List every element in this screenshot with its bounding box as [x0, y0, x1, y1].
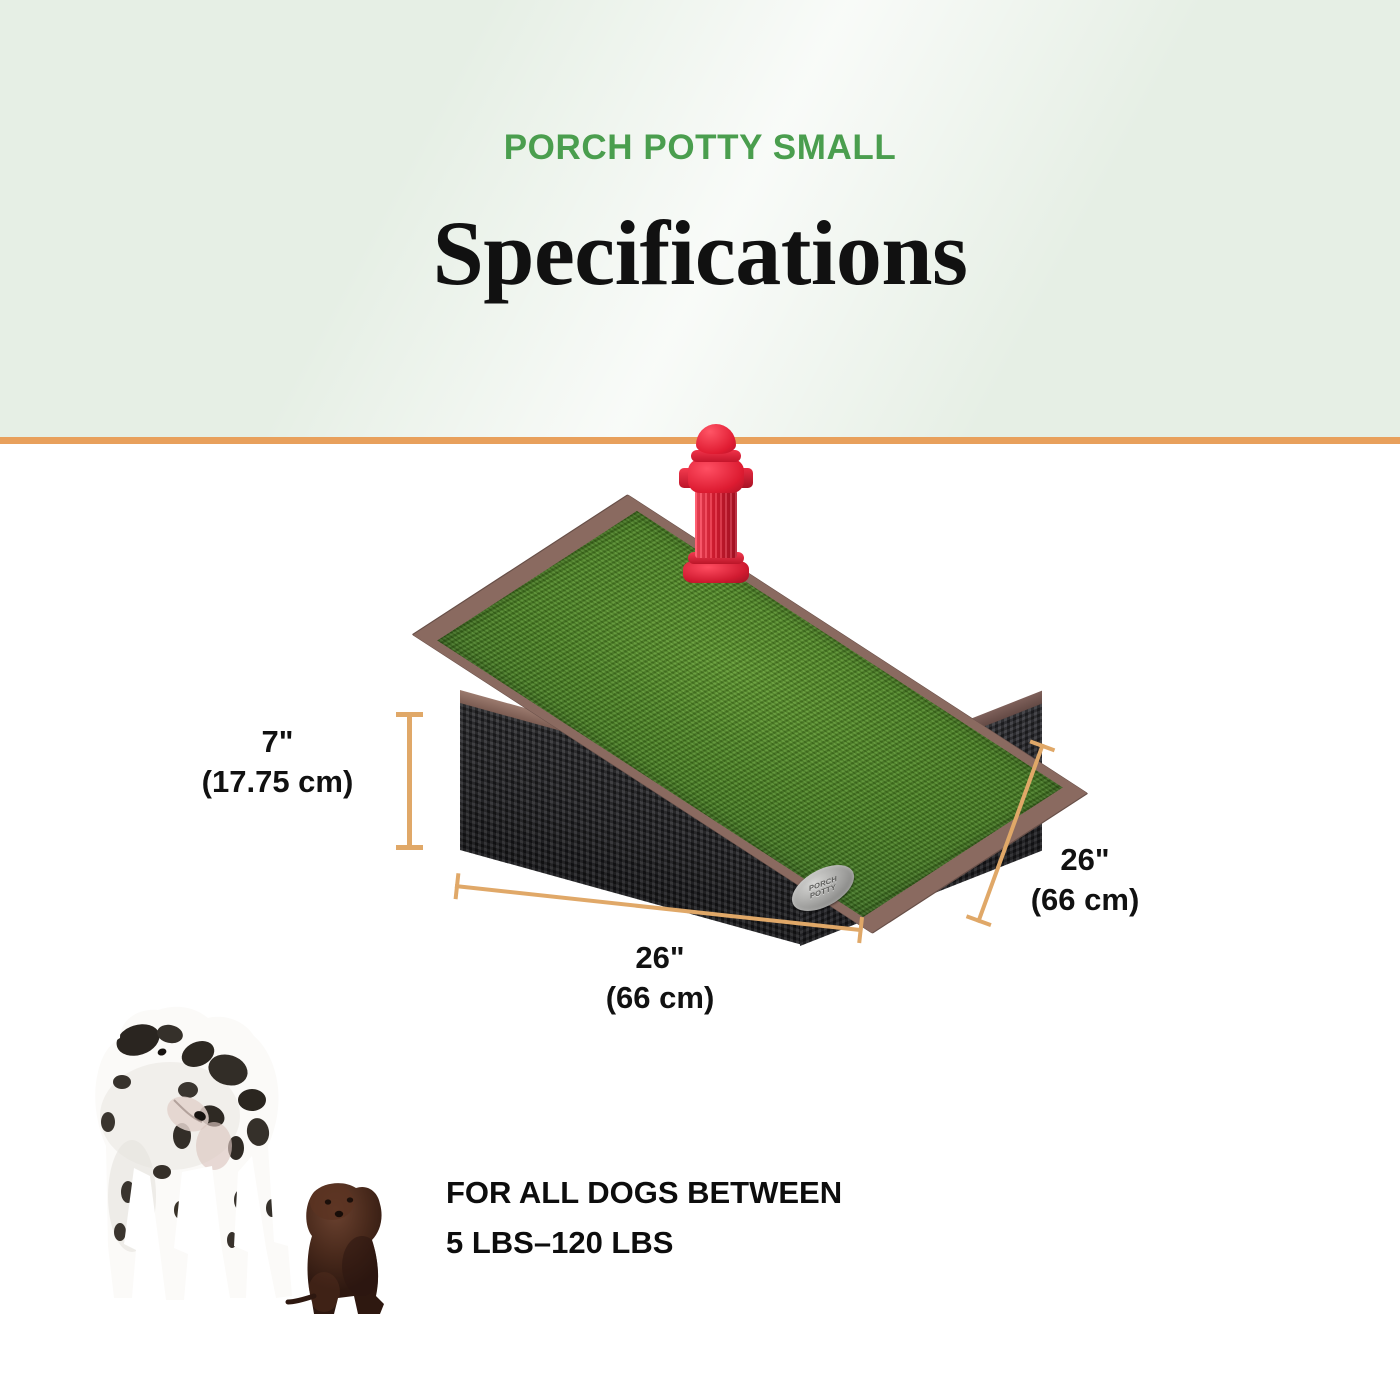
depth-dimension-label: 26" (66 cm)	[985, 840, 1185, 921]
height-value-metric: (17.75 cm)	[165, 762, 390, 802]
width-dimension-label: 26" (66 cm)	[520, 938, 800, 1019]
hydrant-bonnet	[688, 459, 744, 493]
header-band: PORCH POTTY SMALL Specifications	[0, 0, 1400, 437]
width-value-metric: (66 cm)	[520, 978, 800, 1018]
fire-hydrant-icon	[677, 424, 755, 594]
height-dimension-line	[407, 712, 412, 850]
product-eyebrow-title: PORCH POTTY SMALL	[504, 130, 897, 165]
porch-potty-product-image: PORCH POTTY	[440, 484, 1060, 914]
height-value-imperial: 7"	[165, 722, 390, 762]
height-dimension-cap-bottom	[396, 845, 423, 850]
puppy-tail	[288, 1296, 314, 1302]
chocolate-lab-puppy-silhouette	[292, 1166, 407, 1326]
puppy-eye-right	[347, 1197, 353, 1202]
dog-weight-range-text: FOR ALL DOGS BETWEEN 5 LBS–120 LBS	[446, 1168, 1066, 1268]
hydrant-cap	[696, 424, 736, 454]
width-value-imperial: 26"	[520, 938, 800, 978]
weight-range-line-2: 5 LBS–120 LBS	[446, 1218, 1066, 1268]
page-title: Specifications	[433, 207, 968, 299]
depth-value-imperial: 26"	[985, 840, 1185, 880]
puppy-nose	[335, 1211, 343, 1217]
puppy-eye-left	[325, 1199, 331, 1204]
depth-value-metric: (66 cm)	[985, 880, 1185, 920]
height-dimension-label: 7" (17.75 cm)	[165, 722, 390, 803]
dog-size-comparison-image	[62, 996, 407, 1326]
weight-range-line-1: FOR ALL DOGS BETWEEN	[446, 1168, 1066, 1218]
height-dimension-cap-top	[396, 712, 423, 717]
hydrant-base	[683, 561, 749, 583]
hydrant-body	[695, 488, 737, 558]
